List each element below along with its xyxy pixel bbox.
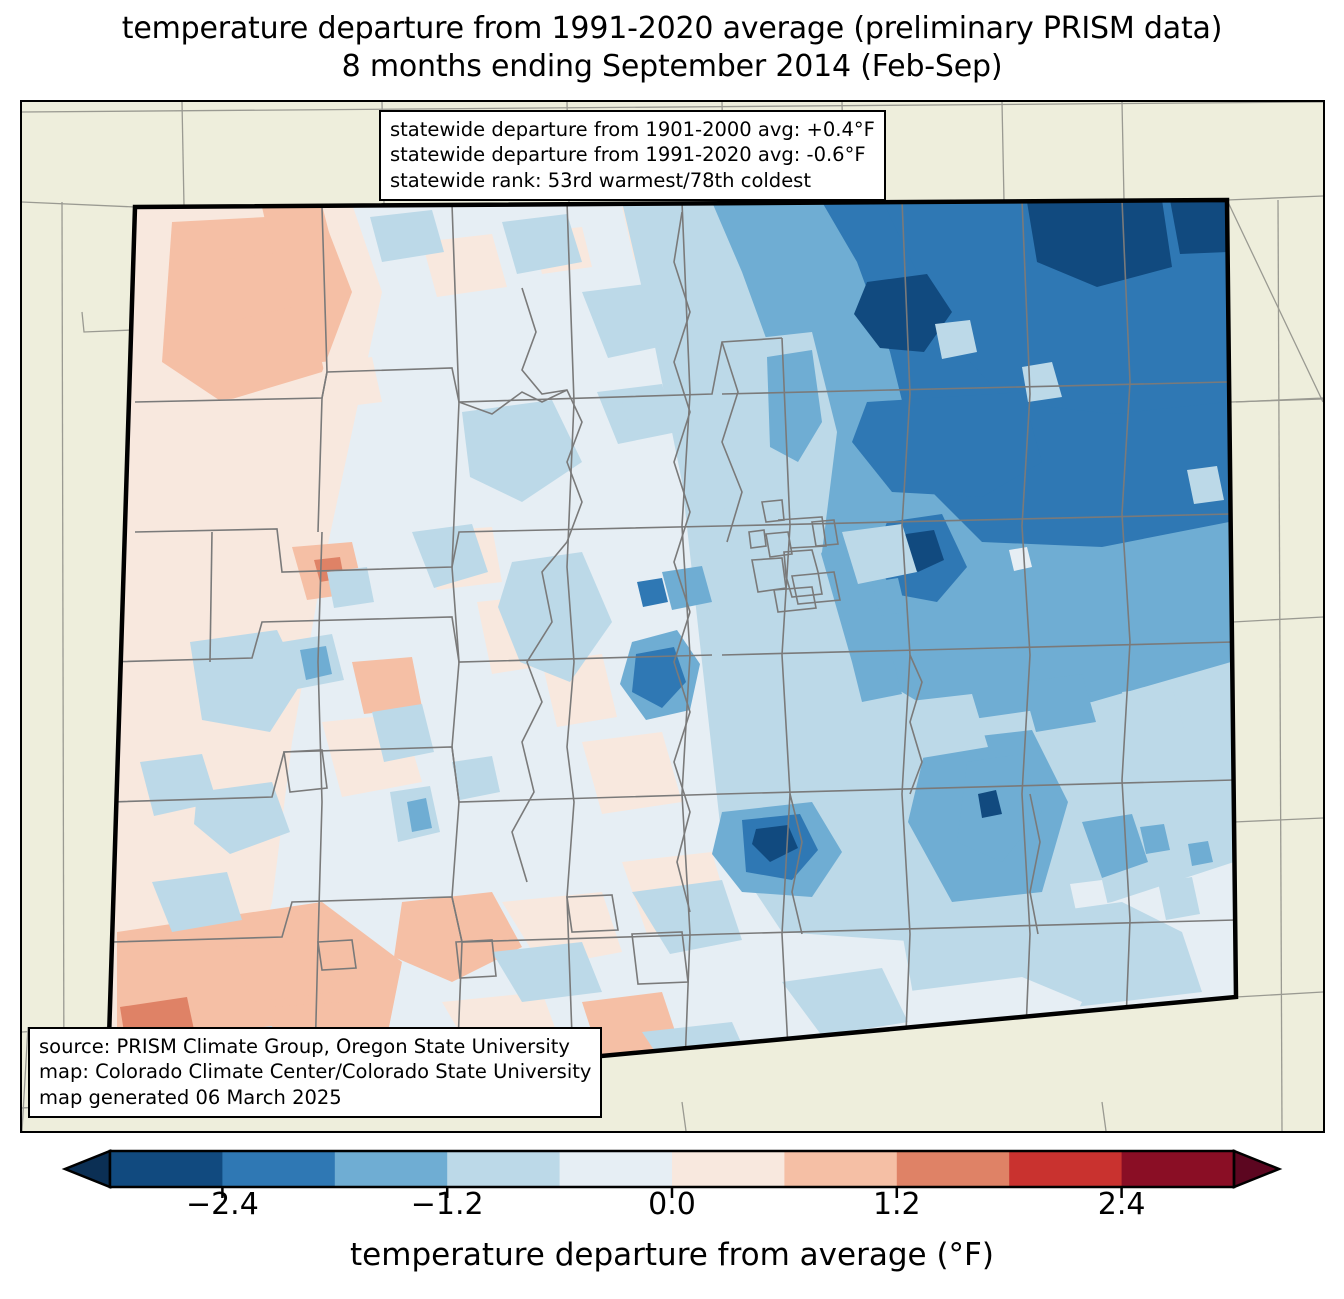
colorbar-band-8 [1009,1151,1122,1187]
colorbar-tick-label-4: 2.4 [1098,1187,1146,1222]
colorbar-band-4 [560,1151,673,1187]
colorbar: −2.4−1.20.01.22.4 temperature departure … [0,1141,1344,1299]
colorbar-band-0 [110,1151,223,1187]
colorbar-band-6 [784,1151,897,1187]
map-frame: statewide departure from 1901-2000 avg: … [20,100,1325,1133]
page-title: temperature departure from 1991-2020 ave… [0,10,1344,87]
colorbar-tick-label-2: 0.0 [648,1187,696,1222]
map-generated-line: map generated 06 March 2025 [39,1085,591,1110]
colorado-temperature-departure-map [22,102,1323,1131]
colorbar-band-9 [1122,1151,1235,1187]
temperature-departure-contours [82,182,1262,1122]
colorbar-band-2 [335,1151,448,1187]
colorbar-tick-label-3: 1.2 [873,1187,921,1222]
colorbar-band-7 [897,1151,1010,1187]
stat-statewide-rank: statewide rank: 53rd warmest/78th coldes… [390,168,875,193]
colorbar-band-3 [447,1151,560,1187]
colorbar-tick-labels: −2.4−1.20.01.22.4 [0,1187,1344,1227]
colorbar-tick-label-1: −1.2 [411,1187,484,1222]
map-credit-line: map: Colorado Climate Center/Colorado St… [39,1059,591,1084]
colorbar-band-1 [222,1151,335,1187]
colorbar-extend-low [65,1151,110,1187]
colorbar-tick-label-0: −2.4 [186,1187,259,1222]
source-box: source: PRISM Climate Group, Oregon Stat… [28,1027,602,1118]
colorbar-axis-label: temperature departure from average (°F) [0,1237,1344,1273]
title-line-2: 8 months ending September 2014 (Feb-Sep) [0,48,1344,86]
title-line-1: temperature departure from 1991-2020 ave… [0,10,1344,48]
statistics-box: statewide departure from 1901-2000 avg: … [379,110,886,201]
colorbar-extend-high [1234,1151,1279,1187]
colorbar-band-5 [672,1151,785,1187]
source-line: source: PRISM Climate Group, Oregon Stat… [39,1034,591,1059]
stat-departure-1991-2020: statewide departure from 1991-2020 avg: … [390,142,875,167]
stat-departure-1901-2000: statewide departure from 1901-2000 avg: … [390,117,875,142]
colorbar-bands [65,1151,1279,1187]
